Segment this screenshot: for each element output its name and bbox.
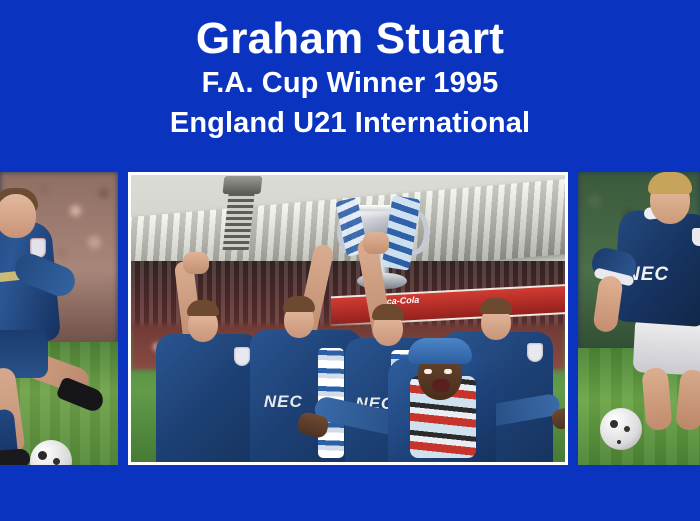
open-mouth: [432, 379, 450, 392]
player-leg: [641, 367, 672, 431]
photo-strip: e one Coca-Cola: [0, 172, 700, 465]
player-hair: [372, 304, 404, 320]
hand-gripping-trophy: [363, 232, 389, 254]
player-hair: [648, 172, 692, 194]
club-badge-icon: [527, 343, 543, 362]
player-hair: [283, 296, 315, 312]
title-block: Graham Stuart F.A. Cup Winner 1995 Engla…: [0, 0, 700, 170]
player-hair: [187, 300, 219, 316]
eye: [444, 369, 452, 374]
front-player-with-beret: [370, 330, 520, 462]
left-scene: e one: [0, 172, 118, 465]
page-title: Graham Stuart: [0, 0, 700, 64]
subtitle-one: F.A. Cup Winner 1995: [0, 64, 700, 102]
player-hair: [480, 298, 512, 314]
shirt-sponsor-text: NEC: [264, 392, 303, 412]
right-scene: NEC: [578, 172, 700, 465]
subtitle-two: England U21 International: [0, 104, 700, 142]
center-scene: Coca-Cola: [131, 175, 565, 462]
beret-hat-icon: [408, 338, 472, 364]
photo-center-fa-cup-celebration: Coca-Cola: [128, 172, 568, 465]
eye: [424, 369, 432, 374]
photo-left-footballer-striking-ball: e one: [0, 172, 118, 465]
hand-holding-medal: [183, 252, 209, 274]
poster: Graham Stuart F.A. Cup Winner 1995 Engla…: [0, 0, 700, 521]
player-head: [0, 194, 36, 238]
photo-right-footballer-dribbling: NEC: [578, 172, 700, 465]
boot-icon: [0, 448, 31, 465]
club-badge-icon: [692, 228, 700, 246]
football-icon: [600, 408, 642, 450]
